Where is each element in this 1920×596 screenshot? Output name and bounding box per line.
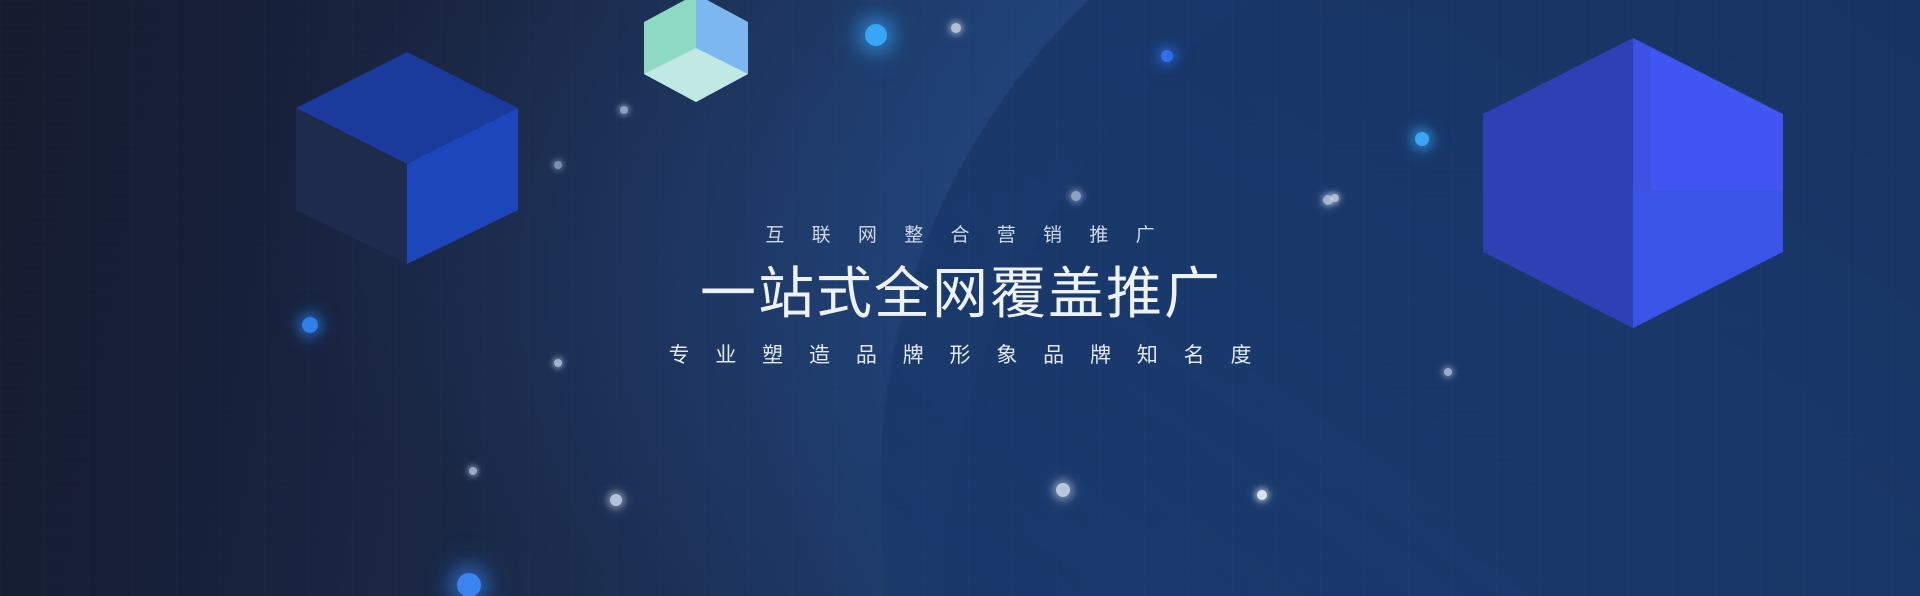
glow-dot: [620, 106, 628, 114]
glow-dot: [951, 23, 961, 33]
glow-dot: [469, 467, 477, 475]
glow-dot: [457, 573, 481, 596]
banner-subline: 专 业 塑 造 品 牌 形 象 品 牌 知 名 度: [0, 340, 1920, 372]
glow-dot: [610, 494, 622, 506]
banner-text-block: 互 联 网 整 合 营 销 推 广 一站式全网覆盖推广 专 业 塑 造 品 牌 …: [0, 222, 1920, 372]
promo-banner: 互 联 网 整 合 营 销 推 广 一站式全网覆盖推广 专 业 塑 造 品 牌 …: [0, 0, 1920, 596]
banner-eyebrow: 互 联 网 整 合 营 销 推 广: [0, 222, 1920, 251]
banner-headline: 一站式全网覆盖推广: [0, 262, 1920, 327]
glow-dot: [554, 161, 562, 169]
glow-dot: [865, 24, 887, 46]
cube-green-small-icon: [644, 0, 748, 102]
